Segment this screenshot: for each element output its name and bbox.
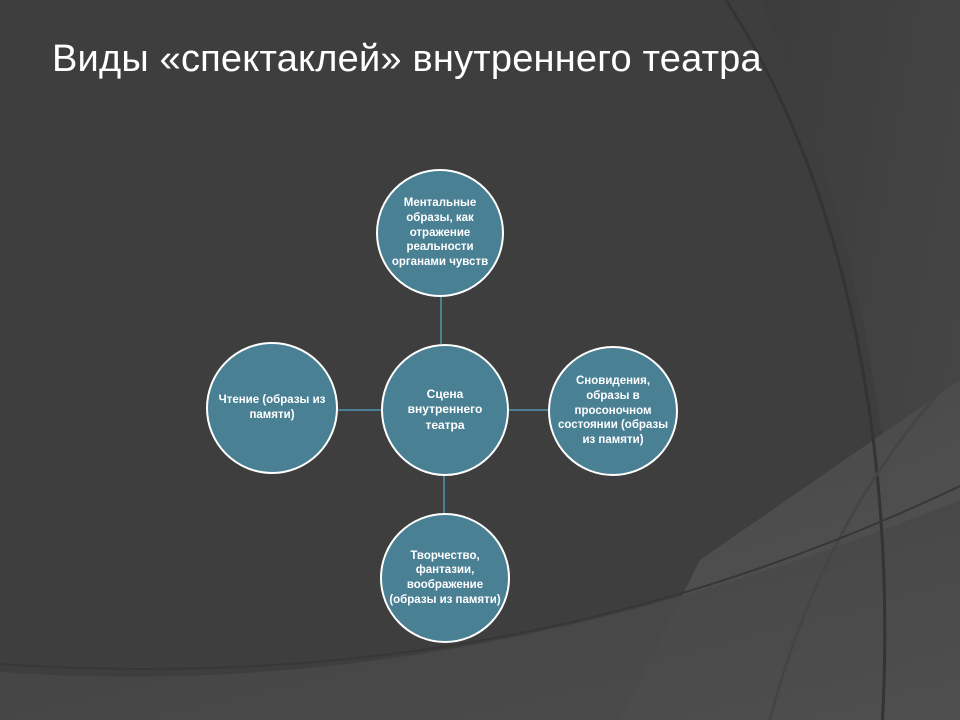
connector-center-to-right [504,409,552,411]
node-right[interactable]: Сновидения, образы в просоночном состоян… [548,346,678,476]
connector-center-to-top [440,292,442,344]
cycle-diagram: Ментальные образы, как отражение реально… [0,0,960,720]
node-left-label: Чтение (образы из памяти) [214,393,330,422]
presentation-slide: Виды «спектаклей» внутреннего театра Мен… [0,0,960,720]
connector-center-to-bottom [443,476,445,514]
node-bottom-label: Творчество, фантазии, воображение (образ… [388,549,502,608]
node-bottom[interactable]: Творчество, фантазии, воображение (образ… [380,513,510,643]
connector-center-to-left [336,409,382,411]
node-top[interactable]: Ментальные образы, как отражение реально… [376,169,504,297]
node-center[interactable]: Сцена внутреннего театра [381,344,509,476]
node-center-label: Сцена внутреннего театра [389,387,501,433]
node-right-label: Сновидения, образы в просоночном состоян… [556,374,670,448]
node-top-label: Ментальные образы, как отражение реально… [384,196,496,270]
node-left[interactable]: Чтение (образы из памяти) [206,342,338,474]
